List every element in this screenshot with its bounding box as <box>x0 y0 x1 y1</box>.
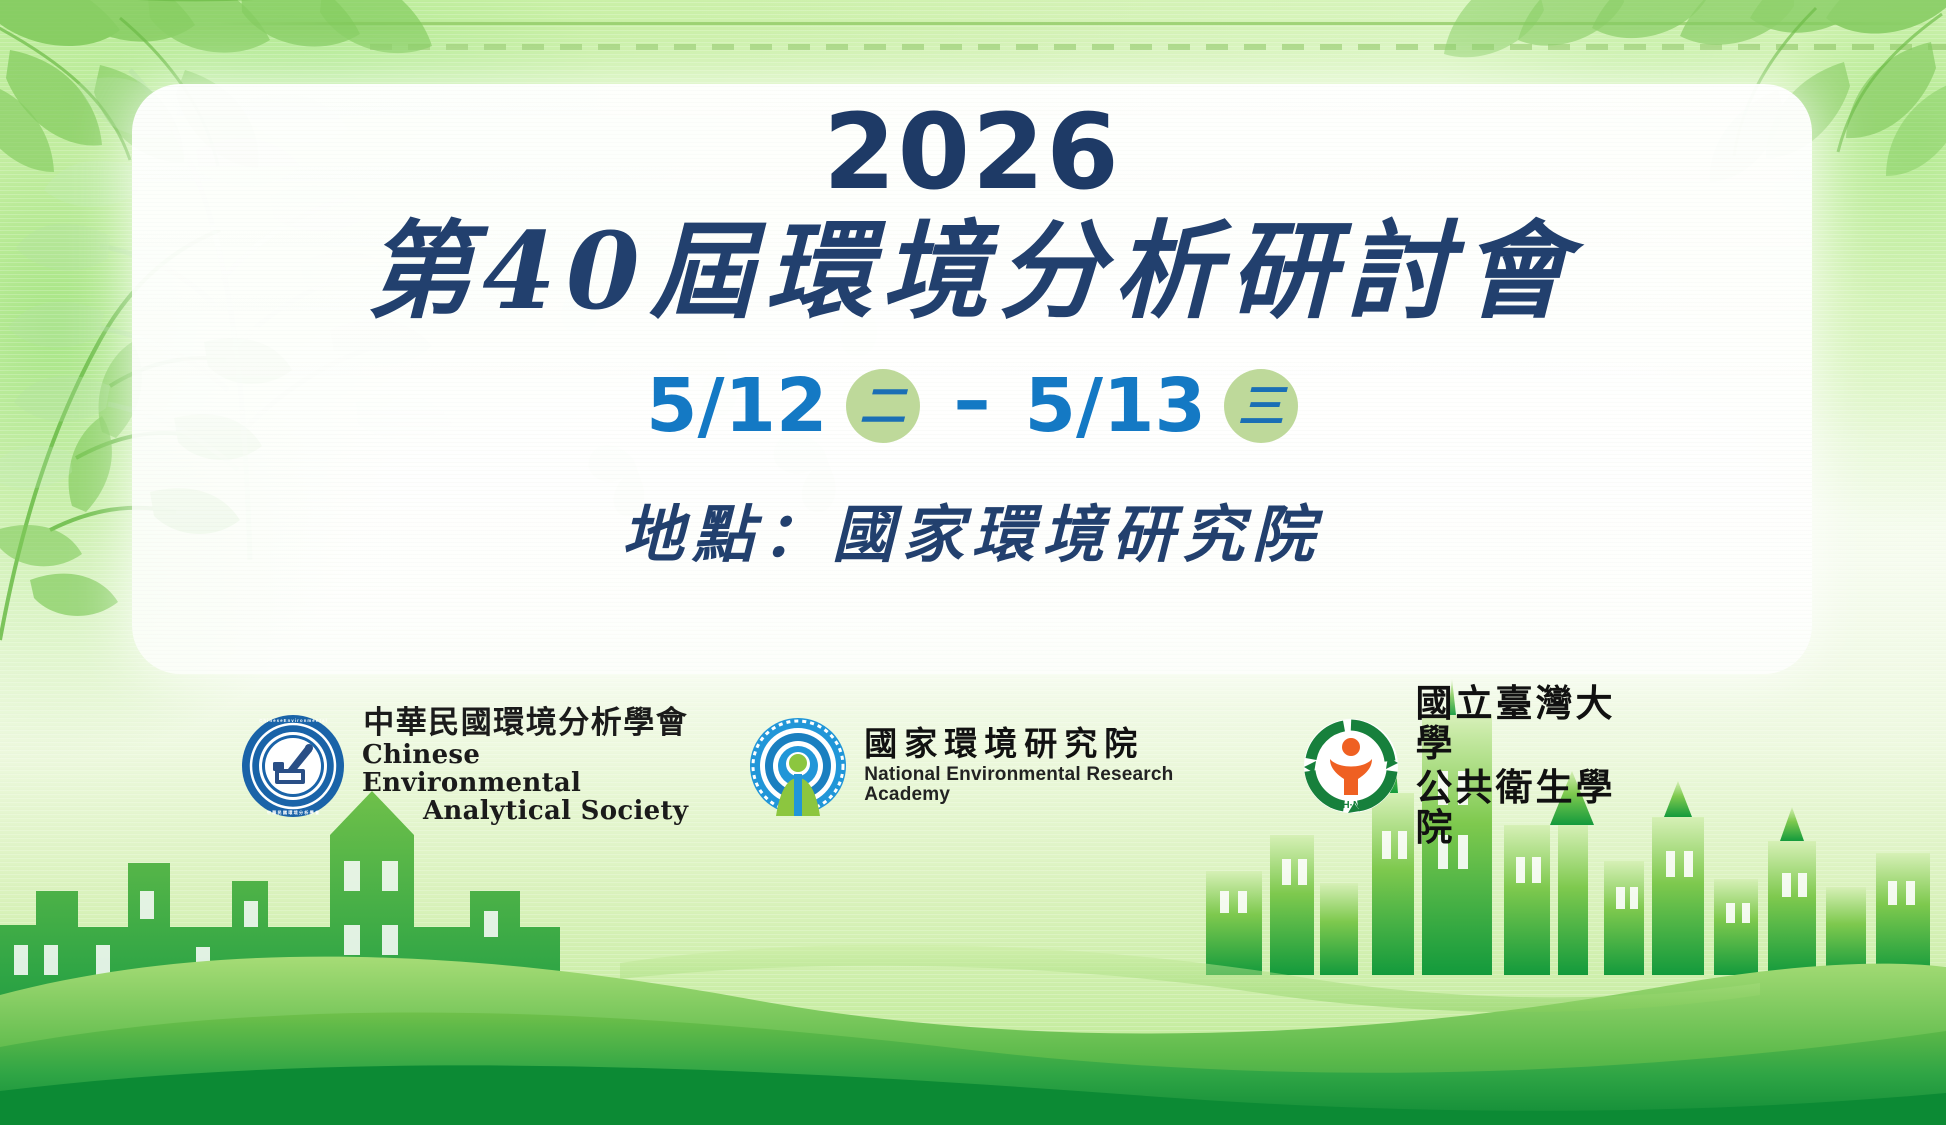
ntu-cph-name-line1: 國立臺灣大學 <box>1416 684 1640 764</box>
logo-ntu-college-of-public-health: CPH·NTU 國立臺灣大學 公共衛生學院 <box>1302 684 1640 848</box>
start-date: 5/12 <box>646 369 828 443</box>
date-range: 5/12 二 – 5/13 三 <box>132 364 1812 448</box>
conference-poster: 2026 第40屆環境分析研討會 5/12 二 – 5/13 三 地點：國家環境… <box>0 0 1946 1125</box>
svg-text:C h i n e s e E n v i r o n: C h i n e s e E n v i r o n m e n t a l <box>259 718 326 723</box>
ceas-name-zh: 中華民國環境分析學會 <box>362 707 688 740</box>
ceas-seal-icon: C h i n e s e E n v i r o n m e n t a l … <box>240 713 346 819</box>
logo-chinese-environmental-analytical-society: C h i n e s e E n v i r o n m e n t a l … <box>240 707 688 825</box>
poster-content: 2026 第40屆環境分析研討會 5/12 二 – 5/13 三 地點：國家環境… <box>132 84 1812 674</box>
date-separator: – <box>938 363 1007 449</box>
end-weekday-badge: 三 <box>1224 369 1298 443</box>
nera-name-en: National Environmental Research Academy <box>864 765 1241 806</box>
ntu-cph-wordmark: 國立臺灣大學 公共衛生學院 <box>1416 684 1640 848</box>
nera-name-zh: 國家環境研究院 <box>864 726 1241 762</box>
organizer-logo-strip: C h i n e s e E n v i r o n m e n t a l … <box>240 706 1640 826</box>
year-heading: 2026 <box>132 100 1812 204</box>
ntu-cph-name-line2: 公共衛生學院 <box>1416 768 1640 848</box>
ceas-name-en1: Chinese Environmental <box>362 741 688 797</box>
ntu-cph-seal-icon: CPH·NTU <box>1302 717 1400 815</box>
logo-national-environmental-research-academy: 國家環境研究院 National Environmental Research … <box>748 716 1241 816</box>
venue-line: 地點：國家環境研究院 <box>132 504 1812 566</box>
svg-text:中 華 民 國 環 境 分 析 學 會: 中 華 民 國 環 境 分 析 學 會 <box>267 809 320 816</box>
ceas-name-en2: Analytical Society <box>362 797 688 825</box>
page-title: 第40屆環境分析研討會 <box>132 214 1812 328</box>
start-weekday-badge: 二 <box>846 369 920 443</box>
ceas-wordmark: 中華民國環境分析學會 Chinese Environmental Analyti… <box>362 707 688 825</box>
nera-wordmark: 國家環境研究院 National Environmental Research … <box>864 726 1241 806</box>
end-date: 5/13 <box>1025 369 1207 443</box>
top-dashed-rule <box>370 44 1946 50</box>
nera-emblem-icon <box>748 716 848 816</box>
svg-text:CPH·NTU: CPH·NTU <box>1328 800 1373 811</box>
